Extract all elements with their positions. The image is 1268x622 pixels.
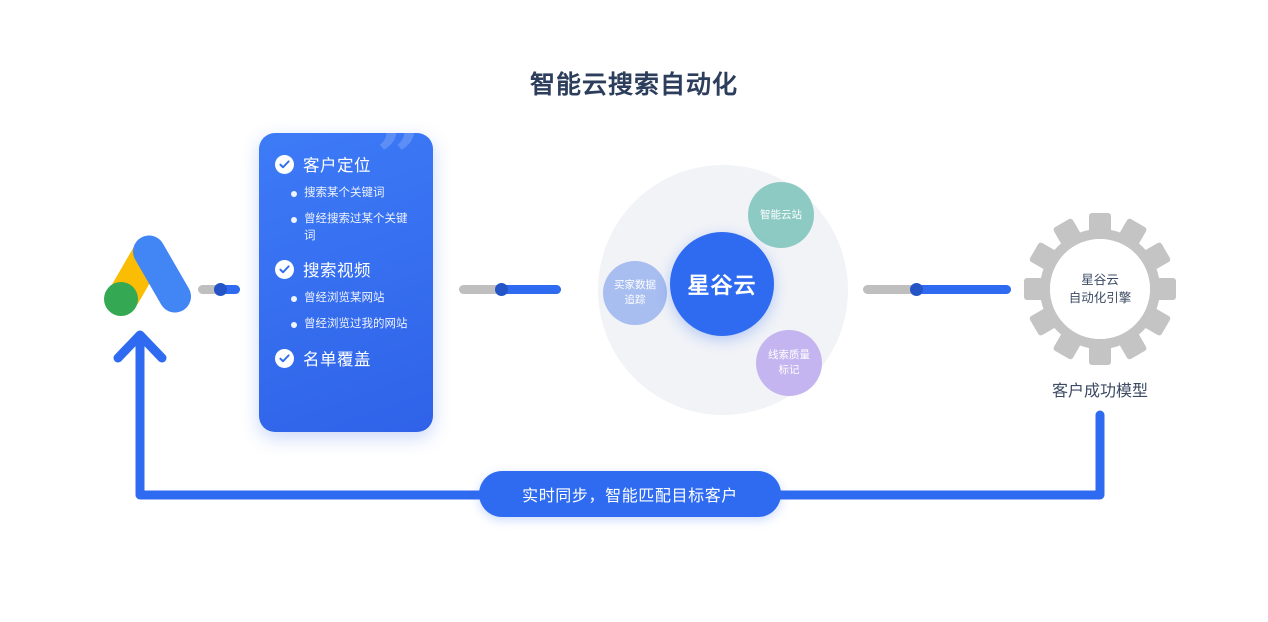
card-bullet-label: 搜索某个关键词 — [304, 185, 385, 202]
card-bullet-label: 曾经浏览过我的网站 — [304, 316, 408, 333]
connector-ads-to-card — [198, 285, 240, 294]
cluster-core-label: 星谷云 — [687, 268, 756, 300]
gear-inner-label: 星谷云 自动化引擎 — [1050, 239, 1150, 339]
connector-card-to-cluster — [459, 285, 561, 294]
card-section-heading: 搜索视频 — [275, 257, 417, 281]
satellite-label-line2: 标记 — [779, 364, 800, 376]
google-ads-logo-icon — [96, 228, 192, 324]
ads-logo-green-circle — [104, 282, 138, 316]
satellite-label: 线索质量 标记 — [768, 348, 810, 378]
check-circle-icon — [275, 155, 294, 174]
satellite-label: 买家数据 追踪 — [614, 278, 656, 308]
satellite-label: 智能云站 — [760, 208, 802, 223]
sync-banner-label: 实时同步，智能匹配目标客户 — [522, 482, 738, 506]
card-bullet-item: 曾经浏览过我的网站 — [291, 316, 417, 333]
card-section-heading-label: 搜索视频 — [303, 257, 371, 281]
gear-caption: 客户成功模型 — [1000, 377, 1200, 401]
card-bullet-item: 曾经搜索过某个关键词 — [291, 211, 417, 245]
card-section-heading: 名单覆盖 — [275, 346, 417, 370]
automation-engine-gear-icon: 星谷云 自动化引擎 — [1024, 213, 1176, 365]
satellite-label-line1: 买家数据 — [614, 279, 656, 291]
bullet-dot-icon — [291, 322, 297, 328]
gear-inner-line2: 自动化引擎 — [1069, 289, 1132, 307]
check-circle-icon — [275, 349, 294, 368]
audience-targeting-card: ” 客户定位 搜索某个关键词 曾经搜索过某个关键词 搜索视频 曾经浏览某网站 — [259, 133, 433, 432]
card-bullet-item: 曾经浏览某网站 — [291, 290, 417, 307]
satellite-lead-quality: 线索质量 标记 — [756, 330, 822, 396]
platform-cluster: 智能云站 买家数据 追踪 线索质量 标记 星谷云 — [598, 165, 848, 415]
satellite-label-line1: 线索质量 — [768, 349, 810, 361]
page-title: 智能云搜索自动化 — [0, 65, 1268, 101]
check-circle-icon — [275, 260, 294, 279]
connector-fill — [915, 285, 1011, 294]
connector-knob — [910, 283, 923, 296]
connector-cluster-to-gear — [863, 285, 1011, 294]
bullet-dot-icon — [291, 296, 297, 302]
satellite-label-line2: 追踪 — [625, 294, 646, 306]
card-bullet-label: 曾经浏览某网站 — [304, 290, 385, 307]
card-bullet-label: 曾经搜索过某个关键词 — [304, 211, 417, 245]
card-section-heading: 客户定位 — [275, 152, 417, 176]
connector-knob — [495, 283, 508, 296]
bullet-dot-icon — [291, 191, 297, 197]
satellite-cloud-site: 智能云站 — [748, 182, 814, 248]
card-section-heading-label: 客户定位 — [303, 152, 371, 176]
connector-knob — [214, 283, 227, 296]
card-section-heading-label: 名单覆盖 — [303, 346, 371, 370]
sync-banner: 实时同步，智能匹配目标客户 — [479, 471, 781, 517]
satellite-buyer-data: 买家数据 追踪 — [603, 261, 667, 325]
diagram-canvas: 智能云搜索自动化 ” 客户定位 搜索某个关键词 曾经搜索过某个关键词 — [0, 0, 1268, 622]
connector-fill — [499, 285, 561, 294]
bullet-dot-icon — [291, 217, 297, 223]
cluster-core-node: 星谷云 — [670, 232, 774, 336]
card-bullet-item: 搜索某个关键词 — [291, 185, 417, 202]
gear-inner-line1: 星谷云 — [1081, 271, 1119, 289]
